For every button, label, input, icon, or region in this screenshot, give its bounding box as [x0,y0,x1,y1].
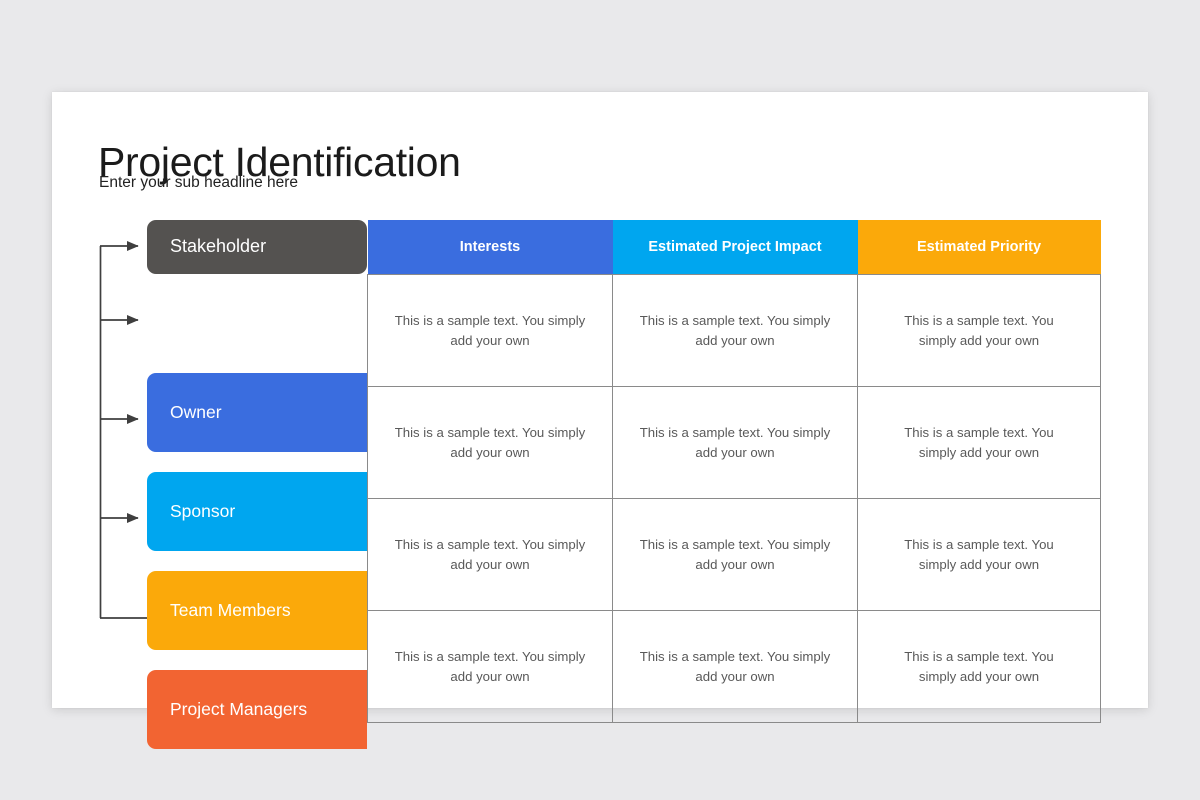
stakeholder-box-label: Sponsor [147,501,235,522]
table-cell[interactable]: This is a sample text. You simply add yo… [368,275,613,387]
table-row: This is a sample text. You simply add yo… [368,387,1101,499]
table-cell[interactable]: This is a sample text. You simply add yo… [858,275,1101,387]
table-cell[interactable]: This is a sample text. You simply add yo… [613,611,858,723]
stakeholder-box-team-members[interactable]: Team Members [147,571,367,650]
stakeholder-box-label: Owner [147,402,222,423]
table-cell[interactable]: This is a sample text. You simply add yo… [858,499,1101,611]
table-cell[interactable]: This is a sample text. You simply add yo… [613,275,858,387]
column-header-estimated-project-impact[interactable]: Estimated Project Impact [613,220,858,275]
stakeholder-table: Interests Estimated Project Impact Estim… [367,220,1101,723]
table-row: This is a sample text. You simply add yo… [368,275,1101,387]
stakeholder-header-box: Stakeholder [147,220,367,274]
table-header-row: Interests Estimated Project Impact Estim… [368,220,1101,275]
stakeholder-box-sponsor[interactable]: Sponsor [147,472,367,551]
table-cell[interactable]: This is a sample text. You simply add yo… [858,387,1101,499]
stakeholder-diagram: Stakeholder Owner Sponsor Team Members P… [52,92,1148,708]
table-cell[interactable]: This is a sample text. You simply add yo… [613,499,858,611]
table-cell[interactable]: This is a sample text. You simply add yo… [613,387,858,499]
column-header-interests[interactable]: Interests [368,220,613,275]
table-row: This is a sample text. You simply add yo… [368,611,1101,723]
stakeholder-box-label: Project Managers [147,699,307,720]
stakeholder-box-label: Team Members [147,600,291,621]
stakeholder-box-owner[interactable]: Owner [147,373,367,452]
stakeholder-box-project-managers[interactable]: Project Managers [147,670,367,749]
table-cell[interactable]: This is a sample text. You simply add yo… [368,499,613,611]
column-header-estimated-priority[interactable]: Estimated Priority [858,220,1101,275]
table-cell[interactable]: This is a sample text. You simply add yo… [858,611,1101,723]
table-cell[interactable]: This is a sample text. You simply add yo… [368,387,613,499]
stakeholder-header-label: Stakeholder [147,236,266,258]
table-cell[interactable]: This is a sample text. You simply add yo… [368,611,613,723]
slide-canvas: Project Identification Enter your sub he… [52,92,1148,708]
table-row: This is a sample text. You simply add yo… [368,499,1101,611]
